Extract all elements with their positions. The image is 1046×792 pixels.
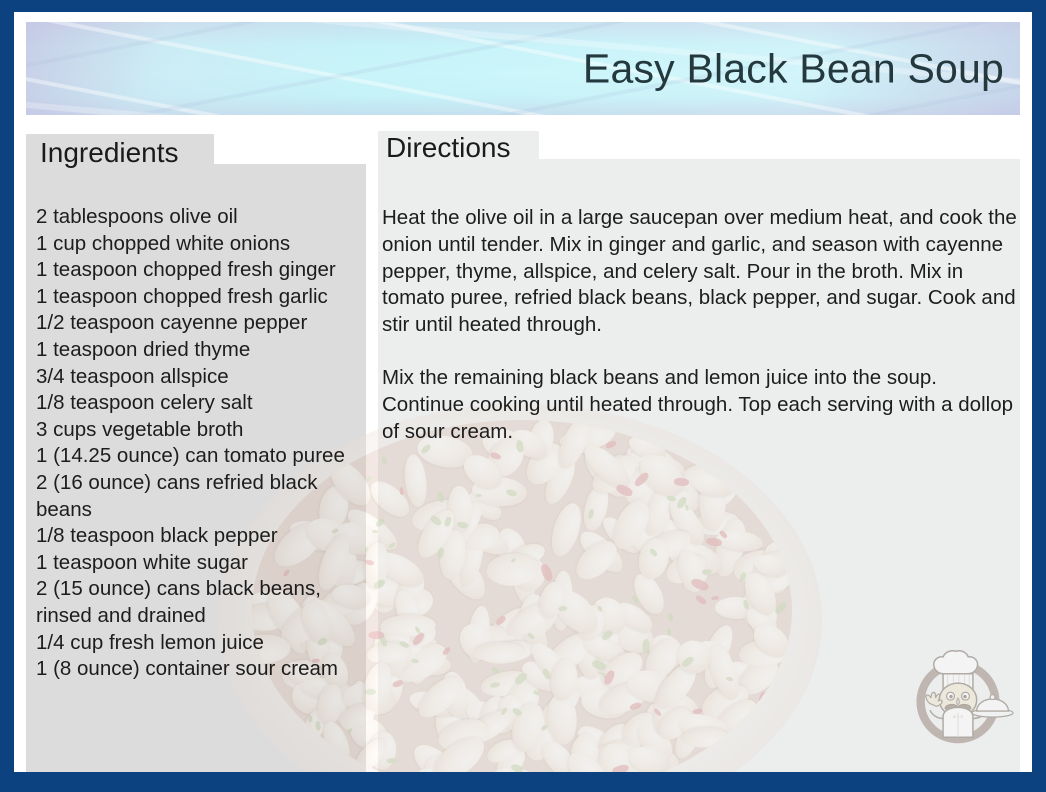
directions-body: Heat the olive oil in a large saucepan o… <box>382 205 1022 471</box>
directions-tab: Directions <box>378 131 539 161</box>
ingredients-heading: Ingredients <box>40 137 179 169</box>
ingredients-list: 2 tablespoons olive oil 1 cup chopped wh… <box>36 204 366 683</box>
directions-heading: Directions <box>386 132 510 164</box>
recipe-card: Easy Black Bean Soup Ingredients Directi… <box>0 0 1046 792</box>
directions-paragraph-2: Mix the remaining black beans and lemon … <box>382 365 1022 445</box>
recipe-page: Easy Black Bean Soup Ingredients Directi… <box>14 12 1032 772</box>
header-banner: Easy Black Bean Soup <box>26 22 1020 115</box>
directions-paragraph-1: Heat the olive oil in a large saucepan o… <box>382 205 1022 339</box>
recipe-title: Easy Black Bean Soup <box>583 47 1004 90</box>
herb-fleck <box>365 689 376 695</box>
ingredients-tab: Ingredients <box>26 134 214 166</box>
